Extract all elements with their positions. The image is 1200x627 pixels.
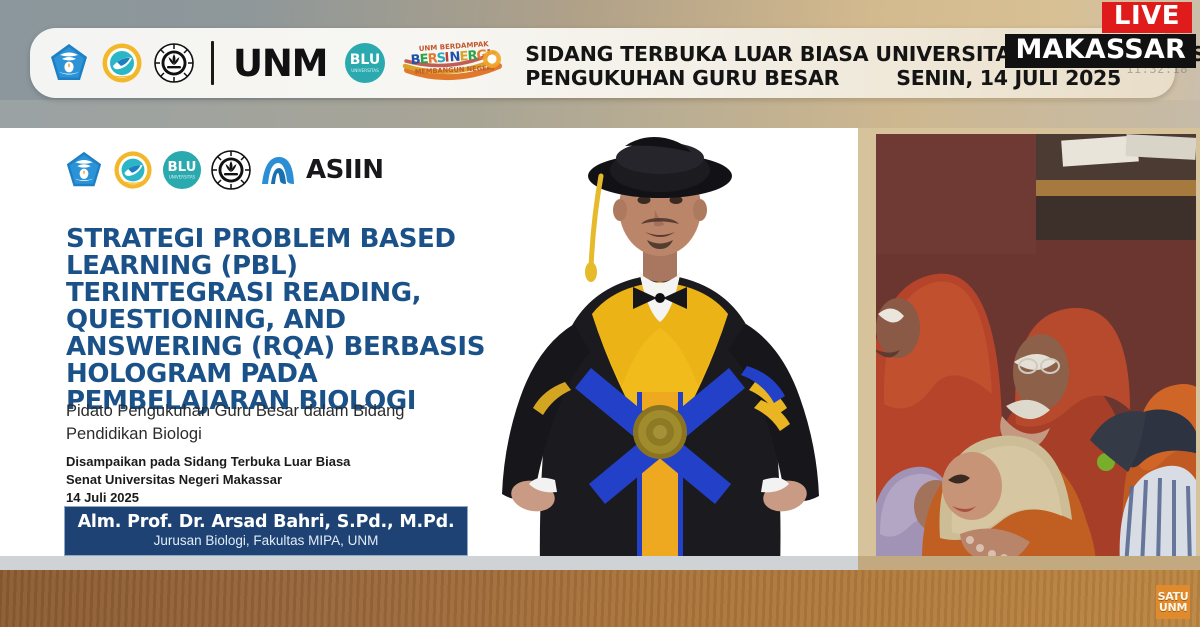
slide-note-line1: Disampaikan pada Sidang Terbuka Luar Bia… — [66, 453, 496, 471]
slide-subtitle: Pidato Pengukuhan Guru Besar dalam Bidan… — [66, 400, 486, 446]
blu-logo: BLU UNIVERSITAS — [162, 150, 202, 190]
broadcast-header-bar: UNM BLU UNIVERSITAS UNM BERDAMPAK B E R … — [30, 28, 1175, 98]
presentation-slide: BLU UNIVERSITAS — [0, 128, 858, 570]
content-area: BLU UNIVERSITAS — [0, 128, 1200, 570]
kemendikbud-tut-wuri-handayani-logo — [64, 150, 104, 190]
speaker-name: Alm. Prof. Dr. Arsad Bahri, S.Pd., M.Pd. — [78, 513, 455, 532]
satu-unm-watermark: SATU UNM — [1156, 585, 1190, 619]
live-badge: LIVE — [1102, 2, 1192, 33]
asiin-arc-icon — [260, 153, 296, 187]
stage-floor — [0, 570, 1200, 627]
floor-grain — [0, 570, 1200, 627]
header-date: SENIN, 14 JULI 2025 — [896, 66, 1161, 90]
audience-scene — [876, 134, 1196, 566]
speaker-name-banner: Alm. Prof. Dr. Arsad Bahri, S.Pd., M.Pd.… — [64, 506, 468, 556]
header-title-line2: PENGUKUHAN GURU BESAR — [525, 66, 839, 90]
slide-title: STRATEGI PROBLEM BASED LEARNING (PBL) TE… — [66, 226, 486, 415]
channel-badge: MAKASSAR — [1005, 34, 1196, 68]
merdeka-belajar-logo — [113, 150, 153, 190]
header-title-row2: PENGUKUHAN GURU BESAR SENIN, 14 JULI 202… — [525, 66, 1161, 90]
svg-text:UNIVERSITAS: UNIVERSITAS — [169, 175, 196, 180]
svg-text:BLU: BLU — [350, 52, 380, 68]
unm-seal-logo — [211, 150, 251, 190]
watermark-line2: UNM — [1159, 602, 1187, 613]
header-logo-strip: UNM BLU UNIVERSITAS UNM BERDAMPAK B E R … — [48, 40, 509, 86]
slide-note: Disampaikan pada Sidang Terbuka Luar Bia… — [66, 453, 496, 506]
header-divider — [211, 41, 214, 85]
unm-seal-logo — [154, 43, 194, 83]
audience-video-panel — [858, 128, 1200, 570]
svg-text:BLU: BLU — [168, 160, 197, 175]
svg-text:UNIVERSITAS: UNIVERSITAS — [351, 68, 379, 73]
asiin-label: ASIIN — [306, 155, 383, 185]
slide-logo-strip: BLU UNIVERSITAS — [64, 150, 383, 190]
slide-note-line3: 14 Juli 2025 — [66, 489, 496, 507]
merdeka-belajar-logo — [101, 42, 143, 84]
broadcast-stage: UNM BLU UNIVERSITAS UNM BERDAMPAK B E R … — [0, 0, 1200, 627]
unm-wordmark: UNM — [233, 45, 327, 82]
blu-logo: BLU UNIVERSITAS — [344, 42, 386, 84]
backdrop-band — [0, 100, 1200, 128]
audience-video-feed — [876, 134, 1196, 566]
unm-berdampak-bersinergi-logo: UNM BERDAMPAK B E R S I N E R G I MEMBAN… — [399, 40, 509, 86]
speaker-figure — [455, 128, 858, 570]
kemendikbud-tut-wuri-handayani-logo — [48, 42, 90, 84]
slide-note-line2: Senat Universitas Negeri Makassar — [66, 471, 496, 489]
speaker-affiliation: Jurusan Biologi, Fakultas MIPA, UNM — [154, 534, 379, 549]
